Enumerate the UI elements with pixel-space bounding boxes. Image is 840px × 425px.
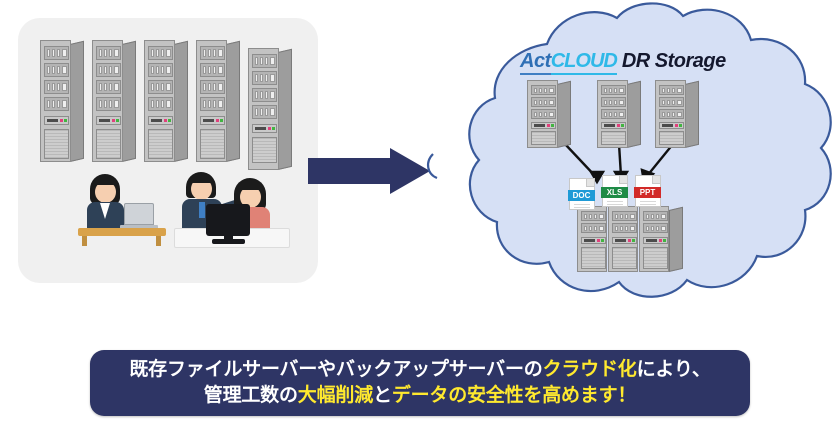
page-fold-corner [652,176,660,184]
rack-front-face [196,40,227,162]
rack-control-panel [200,116,225,125]
page-fold-corner [586,179,594,187]
rack-led-green [116,119,119,122]
rack-led-green [168,119,171,122]
rack-control-panel [96,116,121,125]
desk [78,228,166,236]
rack-bay [44,97,69,111]
rack-bay [96,63,121,77]
rack-front-face [248,48,279,170]
rack-vent [581,247,606,269]
cloud-product-logo: ActCLOUDDR Storage [520,50,726,73]
monitor-base [212,239,245,244]
rack-slot [255,127,266,130]
rack-vent [612,247,637,269]
tagline-line1-highlight: クラウド化 [543,359,637,380]
rack-front-face [639,206,669,272]
rack-led-red [112,119,115,122]
rack-led-red [268,127,271,130]
rack-led-green [621,124,624,127]
rack-control-panel [643,237,668,244]
rack-control-panel [612,237,637,244]
page-lines [607,201,623,202]
migration-arrow [308,148,430,194]
rack-slot [615,239,626,242]
rack-bay [531,85,556,95]
rack-vent [531,131,556,145]
rack-front-face [92,40,123,162]
tagline-line2-part1: 管理工数の [204,385,298,406]
rack-vent [148,129,173,159]
server-rack-3 [144,40,188,162]
rack-control-panel [252,124,277,133]
rack-bay [148,80,173,94]
rack-vent [200,129,225,159]
necktie [199,202,205,218]
rack-bay [148,63,173,77]
rack-bay [44,80,69,94]
rack-bay [252,54,277,68]
laptop-screen [124,203,154,225]
xls-file-label: XLS [601,187,628,198]
rack-slot [99,119,110,122]
rack-bay [601,97,626,107]
rack-control-panel [659,122,684,129]
rack-bay [148,46,173,60]
ppt-file-icon: PPT [635,175,661,207]
tagline-banner: 既存ファイルサーバーやバックアップサーバーのクラウド化により、 管理工数の大幅削… [90,350,750,416]
rack-led-red [597,239,600,242]
tagline-line1-part1: 既存ファイルサーバーやバックアップサーバーの [129,359,542,380]
rack-slot [584,239,595,242]
page-lines [640,201,656,202]
rack-side-face [174,41,188,162]
rack-slot [203,119,214,122]
rack-led-red [547,124,550,127]
rack-control-panel [601,122,626,129]
rack-bay [252,105,277,119]
rack-bay [252,71,277,85]
rack-led-green [551,124,554,127]
rack-bay [148,97,173,111]
monitor-screen [206,204,250,236]
rack-control-panel [531,122,556,129]
cloud-server-top-3 [655,80,699,148]
rack-control-panel [581,237,606,244]
rack-vent [643,247,668,269]
rack-led-red [659,239,662,242]
rack-side-face [278,49,292,170]
rack-side-face [669,207,683,272]
xls-file-icon: XLS [602,175,628,207]
rack-led-green [601,239,604,242]
rack-front-face [577,206,607,272]
rack-bay [659,109,684,119]
tagline-line2-highlight-1: 大幅削減 [298,385,373,406]
page-fold-corner [619,176,627,184]
office-worker-woman-with-laptop [66,170,174,246]
rack-bay [96,46,121,60]
rack-led-red [675,124,678,127]
rack-control-panel [148,116,173,125]
rack-slot [47,119,58,122]
rack-led-red [617,124,620,127]
server-rack-5 [248,48,292,170]
cloud-storage: ActCLOUDDR Storage [425,2,840,322]
logo-product-text: DR Storage [622,50,726,72]
rack-bay [531,97,556,107]
rack-led-green [220,119,223,122]
cloud-server-bottom-1 [577,206,611,272]
rack-bay [612,223,637,233]
rack-bay [601,109,626,119]
rack-vent [96,129,121,159]
rack-slot [646,239,657,242]
rack-slot [151,119,162,122]
rack-led-red [164,119,167,122]
rack-bay [659,97,684,107]
rack-front-face [655,80,686,148]
rack-vent [601,131,626,145]
logo-act-text: Act [520,50,551,75]
rack-led-green [272,127,275,130]
tagline-line-1: 既存ファイルサーバーやバックアップサーバーのクラウド化により、 [129,357,710,383]
rack-bay [44,63,69,77]
rack-slot [662,124,673,127]
rack-bay [252,88,277,102]
rack-bay [96,80,121,94]
rack-front-face [527,80,558,148]
rack-slot [604,124,615,127]
cloud-server-bottom-3 [639,206,683,272]
rack-bay [200,46,225,60]
server-rack-1 [40,40,84,162]
rack-led-red [216,119,219,122]
rack-side-face [70,41,84,162]
hair-fringe [238,180,263,190]
rack-bay [612,211,637,221]
rack-side-face [627,81,641,148]
rack-led-green [64,119,67,122]
rack-slot [534,124,545,127]
rack-bay [643,223,668,233]
cloud-server-top-2 [597,80,641,148]
rack-bay [601,85,626,95]
rack-bay [531,109,556,119]
rack-bay [96,97,121,111]
cloud-server-bottom-2 [608,206,642,272]
rack-control-panel [44,116,69,125]
rack-led-red [628,239,631,242]
tagline-line-2: 管理工数の大幅削減とデータの安全性を高めます！ [204,383,636,409]
rack-bay [200,63,225,77]
rack-vent [44,129,69,159]
rack-bay [659,85,684,95]
rack-front-face [608,206,638,272]
rack-front-face [597,80,628,148]
rack-front-face [40,40,71,162]
office-workers-pair-with-desktop-pc [168,166,294,250]
rack-vent [659,131,684,145]
on-premise-servers-panel [18,18,318,283]
rack-led-green [663,239,666,242]
rack-bay [581,223,606,233]
rack-bay [44,46,69,60]
hair-fringe [93,176,118,185]
cloud-server-top-1 [527,80,571,148]
logo-cloud-text: CLOUD [551,50,617,75]
rack-led-green [679,124,682,127]
rack-side-face [226,41,240,162]
server-rack-2 [92,40,136,162]
rack-bay [643,211,668,221]
rack-led-red [60,119,63,122]
hair-fringe [189,173,214,183]
ppt-file-label: PPT [634,187,661,198]
tagline-line2-part2: と [373,385,392,406]
page-lines [574,204,590,205]
tagline-line1-part2: により、 [637,359,711,380]
server-rack-4 [196,40,240,162]
desk-leg [156,236,161,246]
rack-bay [200,97,225,111]
tagline-line2-highlight-2: データの安全性を高めます！ [392,385,636,406]
doc-file-icon: DOC [569,178,595,210]
rack-front-face [144,40,175,162]
rack-bay [581,211,606,221]
doc-file-label: DOC [568,190,595,201]
rack-side-face [122,41,136,162]
desk-leg [82,236,87,246]
rack-vent [252,137,277,163]
rack-bay [200,80,225,94]
rack-led-green [632,239,635,242]
rack-side-face [557,81,571,148]
rack-side-face [685,81,699,148]
